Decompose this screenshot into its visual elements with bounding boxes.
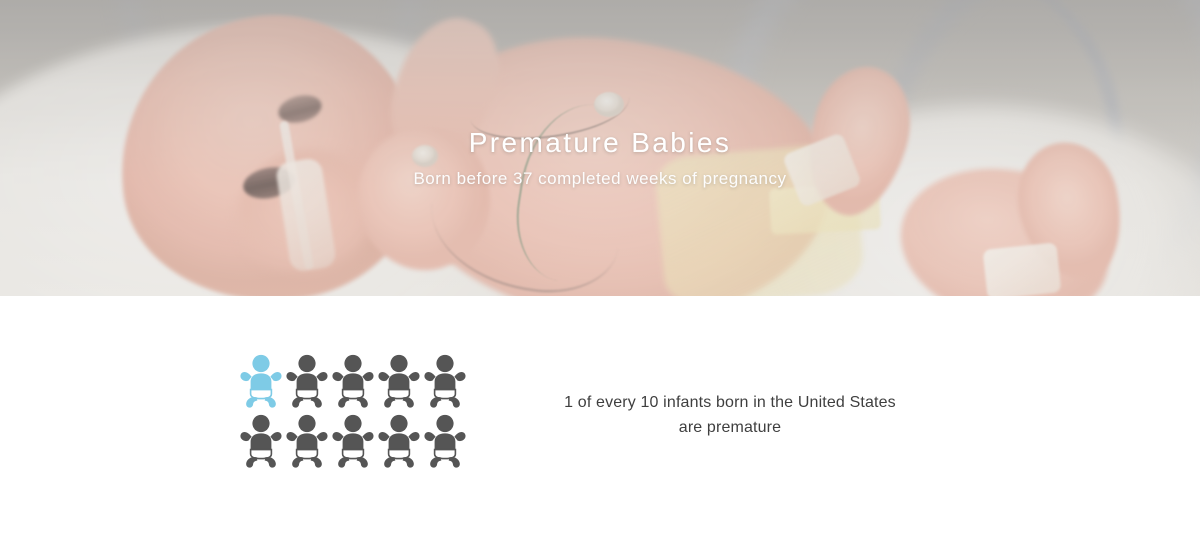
baby-pictograph <box>238 354 468 468</box>
infographic-page: Premature Babies Born before 37 complete… <box>0 0 1200 545</box>
baby-icon <box>238 354 284 408</box>
baby-icon <box>422 414 468 468</box>
statistic-caption-line-1: 1 of every 10 infants born in the United… <box>564 394 896 411</box>
baby-icon <box>376 414 422 468</box>
statistic-caption-line-2: are premature <box>679 419 781 436</box>
baby-icon <box>284 354 330 408</box>
page-title: Premature Babies <box>0 128 1200 159</box>
statistic-section: 1 of every 10 infants born in the United… <box>0 296 1200 545</box>
statistic-caption: 1 of every 10 infants born in the United… <box>500 390 960 440</box>
baby-icon <box>422 354 468 408</box>
baby-icon <box>330 414 376 468</box>
hero-banner: Premature Babies Born before 37 complete… <box>0 0 1200 296</box>
baby-icon <box>238 414 284 468</box>
baby-icon <box>330 354 376 408</box>
page-subtitle: Born before 37 completed weeks of pregna… <box>0 169 1200 189</box>
baby-icon <box>376 354 422 408</box>
baby-icon <box>284 414 330 468</box>
hero-text-block: Premature Babies Born before 37 complete… <box>0 128 1200 189</box>
